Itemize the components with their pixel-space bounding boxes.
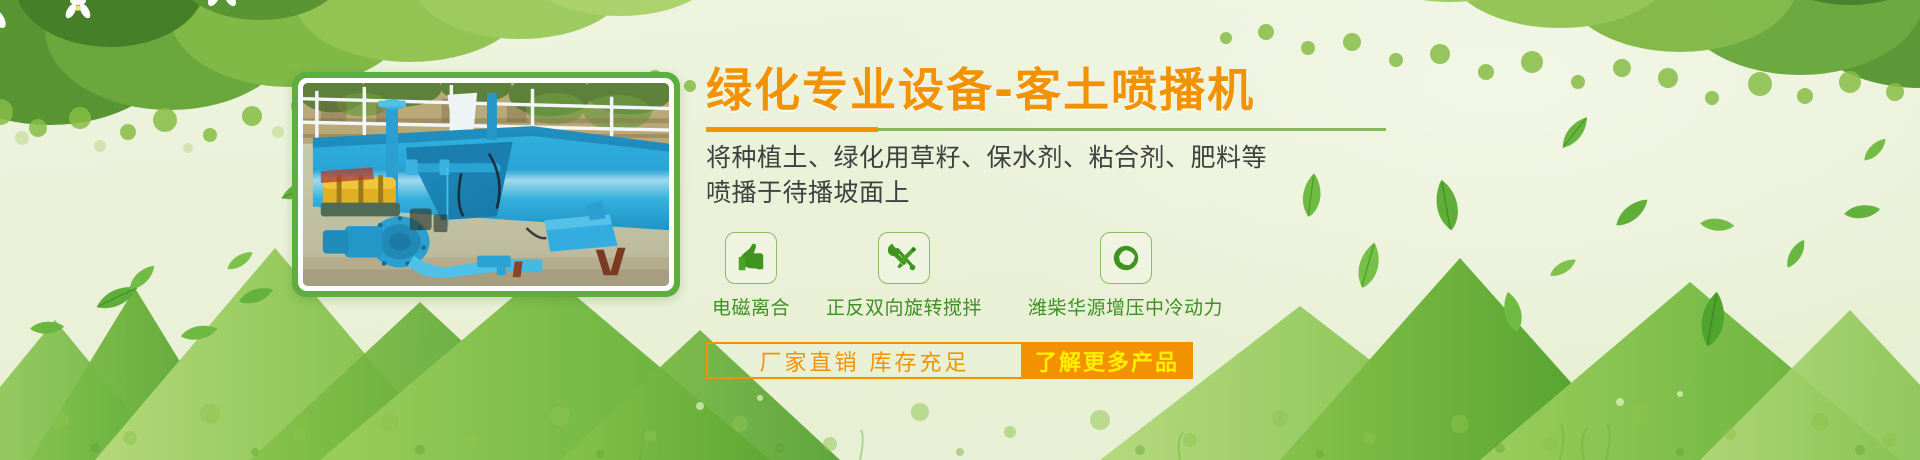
feature-label: 正反双向旋转搅拌	[826, 293, 982, 320]
product-photo-frame[interactable]	[292, 72, 680, 297]
cta-slogan: 厂家直销 库存充足	[708, 344, 1021, 377]
promo-banner: 绿化专业设备-客土喷播机 将种植土、绿化用草籽、保水剂、粘合剂、肥料等 喷播于待…	[0, 0, 1920, 460]
feature-label: 潍柴华源增压中冷动力	[1028, 293, 1223, 320]
feature-list: 电磁离合	[706, 232, 1876, 320]
product-photo-inner-border	[298, 78, 674, 291]
subtitle-line-2: 喷播于待播坡面上	[706, 176, 1876, 211]
feature-item-electromagnetic-clutch[interactable]: 电磁离合	[712, 232, 790, 320]
leaf-icon	[224, 250, 256, 272]
leaf-icon	[237, 283, 275, 309]
tools-icon	[878, 232, 930, 284]
title-divider	[706, 128, 1386, 131]
subtitle-line-1: 将种植土、绿化用草籽、保水剂、粘合剂、肥料等	[706, 141, 1876, 176]
leaf-icon	[27, 312, 66, 343]
learn-more-button[interactable]: 了解更多产品	[1021, 342, 1193, 379]
cta-bar: 厂家直销 库存充足 了解更多产品	[706, 342, 1193, 379]
banner-content: 绿化专业设备-客土喷播机 将种植土、绿化用草籽、保水剂、粘合剂、肥料等 喷播于待…	[706, 66, 1876, 379]
hydroseeder-machine-photo	[303, 83, 669, 286]
feature-item-turbo-power[interactable]: 潍柴华源增压中冷动力	[1028, 232, 1223, 320]
leaf-icon	[178, 318, 220, 349]
feature-item-bidirectional-mixing[interactable]: 正反双向旋转搅拌	[826, 232, 982, 320]
gear-ring-icon	[1100, 232, 1152, 284]
leaf-icon	[123, 263, 162, 293]
page-title: 绿化专业设备-客土喷播机	[706, 66, 1876, 114]
feature-label: 电磁离合	[712, 293, 790, 320]
thumbs-up-icon	[725, 232, 777, 284]
